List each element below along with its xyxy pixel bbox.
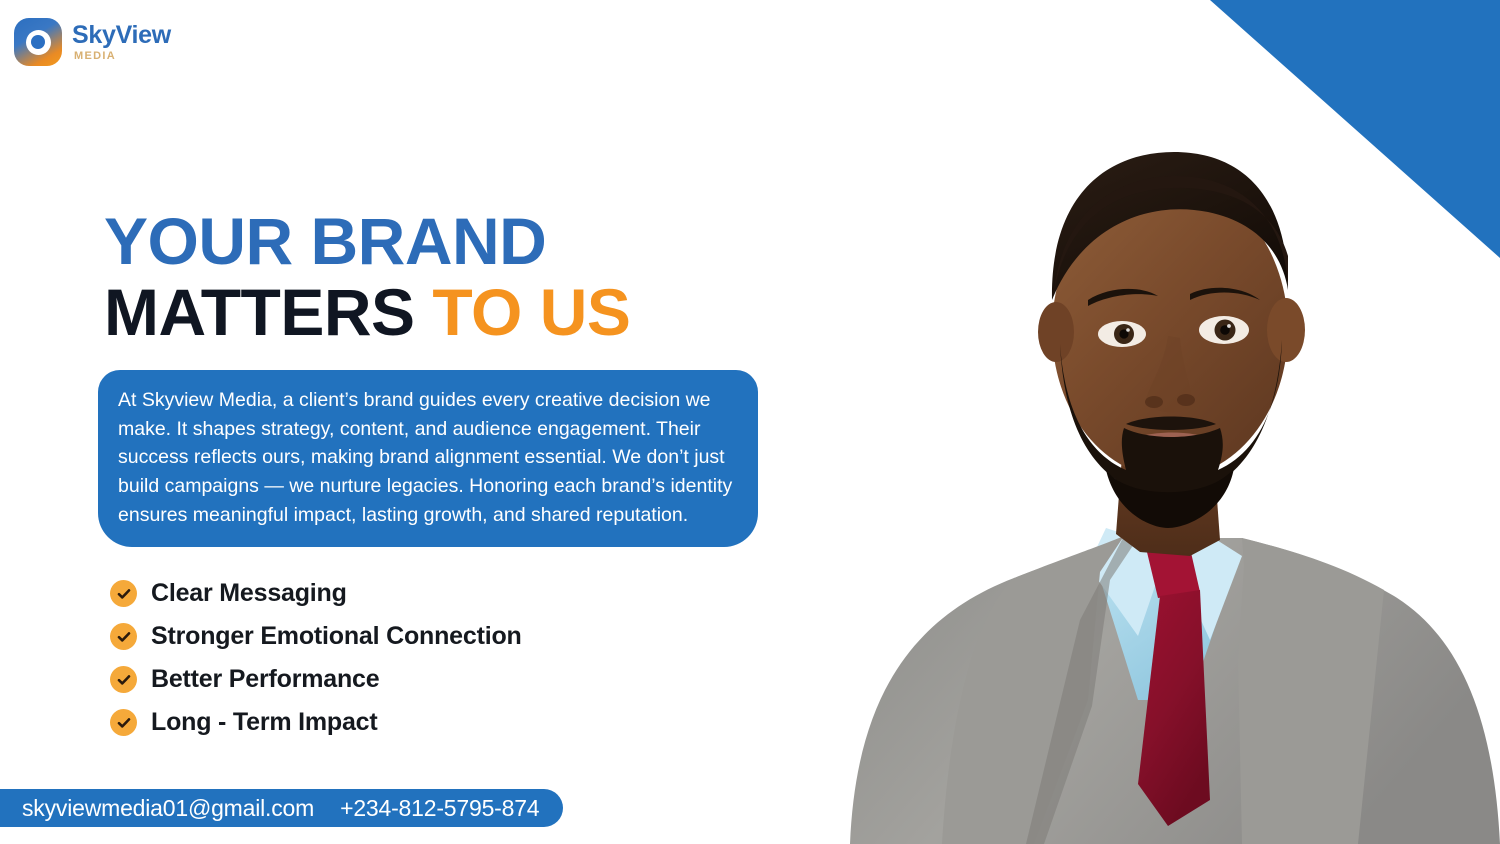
contact-email[interactable]: skyviewmedia01@gmail.com <box>22 795 314 822</box>
list-item[interactable]: Clear Messaging <box>110 572 522 615</box>
brand-subtitle: MEDIA <box>74 51 171 62</box>
list-item[interactable]: Better Performance <box>110 658 522 701</box>
headline-to-us: TO US <box>432 275 630 349</box>
list-item[interactable]: Stronger Emotional Connection <box>110 615 522 658</box>
logo-ring <box>26 30 51 55</box>
check-circle-icon <box>110 666 137 693</box>
headline-line-1: YOUR BRAND <box>104 206 630 277</box>
logo-wordmark: SkyView MEDIA <box>72 23 171 62</box>
logo-dot <box>31 35 45 49</box>
headline-matters: MATTERS <box>104 275 432 349</box>
brand-name: SkyView <box>72 23 171 48</box>
check-circle-icon <box>110 623 137 650</box>
benefits-list: Clear Messaging Stronger Emotional Conne… <box>110 572 522 744</box>
check-circle-icon <box>110 709 137 736</box>
page-title: YOUR BRAND MATTERS TO US <box>104 206 630 349</box>
benefit-label: Better Performance <box>151 665 379 694</box>
skyview-circle-lens-icon <box>14 18 62 66</box>
headline-line-2: MATTERS TO US <box>104 277 630 348</box>
benefit-label: Clear Messaging <box>151 579 347 608</box>
check-circle-icon <box>110 580 137 607</box>
contact-bar: skyviewmedia01@gmail.com +234-812-5795-8… <box>0 789 563 827</box>
poster-canvas: SkyView MEDIA YOUR BRAND MATTERS TO US A… <box>0 0 1500 844</box>
benefit-label: Long - Term Impact <box>151 708 378 737</box>
list-item[interactable]: Long - Term Impact <box>110 701 522 744</box>
about-blurb: At Skyview Media, a client’s brand guide… <box>98 370 758 547</box>
brand-logo[interactable]: SkyView MEDIA <box>14 18 171 66</box>
contact-phone[interactable]: +234-812-5795-874 <box>340 795 539 822</box>
benefit-label: Stronger Emotional Connection <box>151 622 522 651</box>
